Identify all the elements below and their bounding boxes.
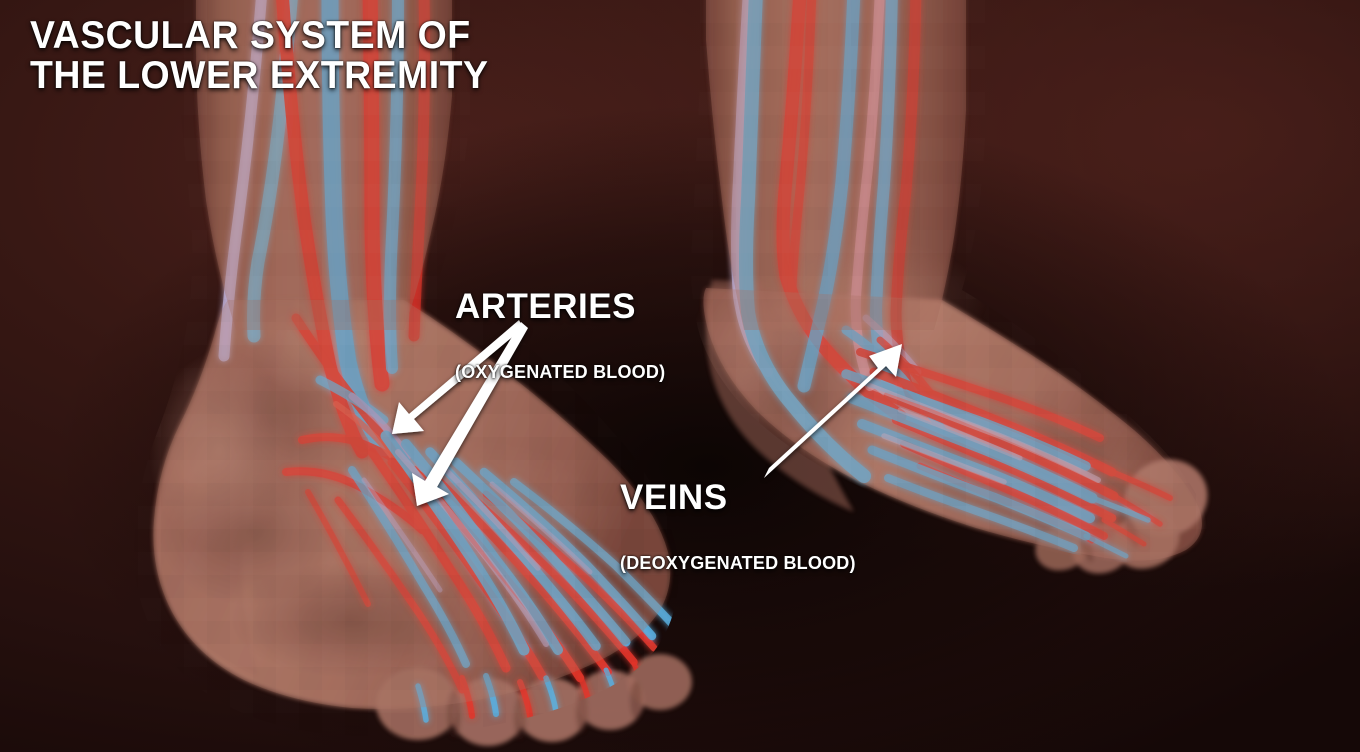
page-title: VASCULAR SYSTEM OFTHE LOWER EXTREMITY	[30, 16, 488, 96]
veins-callout: VEINS (DEOXYGENATED BLOOD)	[620, 443, 856, 610]
arteries-subtext: (OXYGENATED BLOOD)	[455, 361, 665, 383]
title-line-1: VASCULAR SYSTEM OF	[30, 14, 471, 57]
veins-label: VEINS	[620, 479, 856, 516]
callout-arrows-layer	[0, 0, 1360, 752]
arteries-callout: ARTERIES (OXYGENATED BLOOD)	[455, 252, 665, 419]
veins-subtext: (DEOXYGENATED BLOOD)	[620, 552, 856, 574]
vascular-illustration: VASCULAR SYSTEM OFTHE LOWER EXTREMITY AR…	[0, 0, 1360, 752]
arteries-label: ARTERIES	[455, 288, 665, 325]
title-line-2: THE LOWER EXTREMITY	[30, 54, 488, 97]
